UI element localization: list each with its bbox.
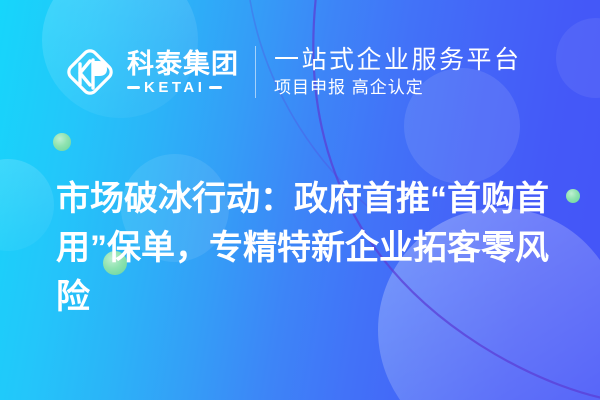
wordmark-rule-left — [127, 86, 140, 89]
promo-banner: 科泰集团 KETAI 一站式企业服务平台 项目申报 高企认定 市场破冰行动：政府… — [0, 0, 600, 400]
ketai-diamond-kp-logo-icon — [62, 44, 118, 100]
header-divider — [255, 46, 256, 98]
brand-name-cn: 科泰集团 — [127, 49, 239, 79]
banner-header: 科泰集团 KETAI 一站式企业服务平台 项目申报 高企认定 — [0, 34, 600, 110]
wordmark-rule-right — [209, 86, 222, 89]
brand-name-en: KETAI — [144, 80, 205, 96]
brand-slogan: 一站式企业服务平台 项目申报 高企认定 — [274, 45, 522, 99]
pale-circle-mid-left — [0, 159, 54, 251]
brand-name-en-row: KETAI — [127, 80, 239, 96]
slogan-main-text: 一站式企业服务平台 — [274, 45, 522, 75]
slogan-sub-text: 项目申报 高企认定 — [274, 77, 522, 99]
green-dot-upper-left — [53, 133, 71, 151]
banner-headline: 市场破冰行动：政府首推“首购首用”保单，专精特新企业拓客零风险 — [56, 175, 568, 322]
brand-wordmark: 科泰集团 KETAI — [127, 49, 239, 96]
brand-logo[interactable]: 科泰集团 KETAI — [62, 44, 239, 100]
green-dot-right — [566, 189, 580, 203]
